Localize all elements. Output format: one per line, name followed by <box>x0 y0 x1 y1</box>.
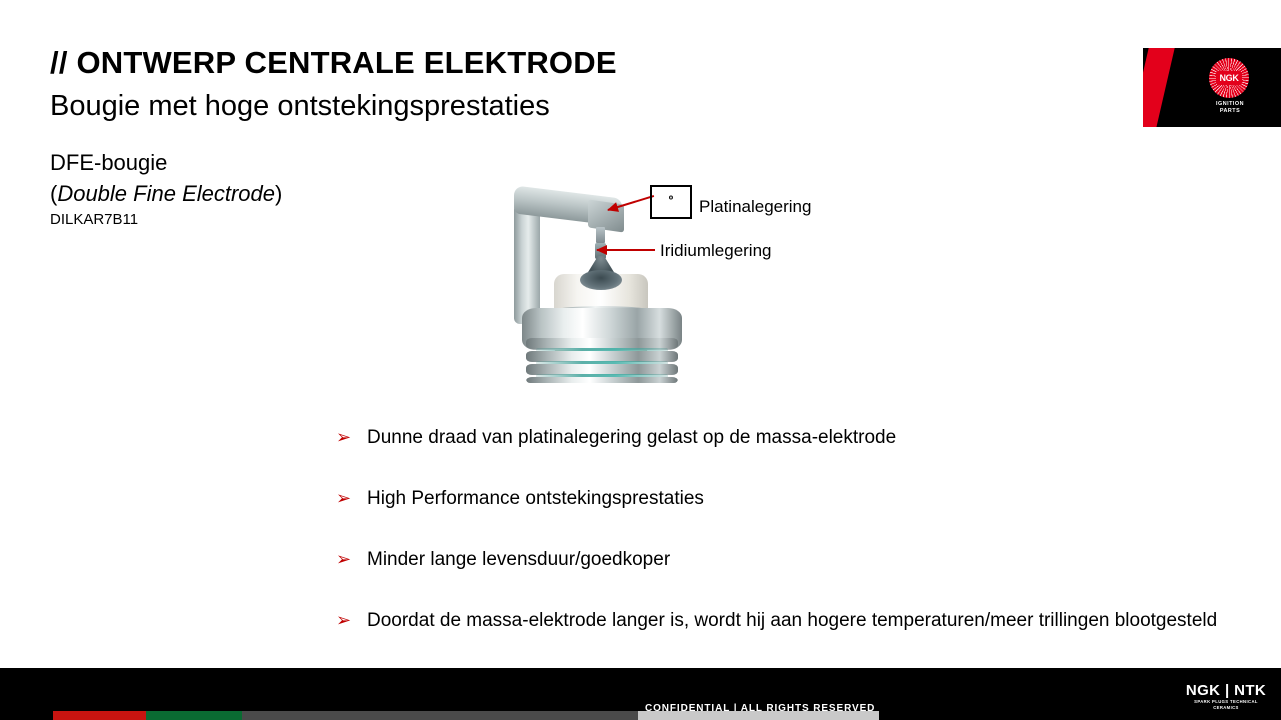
footer-color-strip <box>0 711 1281 720</box>
list-item: ➢ High Performance ontstekingsprestaties <box>336 485 1236 512</box>
callout-label-platinum: Platinalegering <box>699 197 811 217</box>
bullet-list: ➢ Dunne draad van platinalegering gelast… <box>336 424 1236 634</box>
list-item-text: Minder lange levensduur/goedkoper <box>367 549 670 570</box>
brand-stripe-decoration <box>1143 48 1176 127</box>
strip-segment-green <box>146 711 242 720</box>
callout-label-iridium: Iridiumlegering <box>660 241 772 261</box>
strip-segment-black-right <box>879 711 1281 720</box>
strip-segment-dark-gray <box>242 711 638 720</box>
product-expansion: (Double Fine Electrode) <box>50 178 470 209</box>
footer-logo-divisions: SPARK PLUGS TECHNICAL CERAMICS <box>1182 699 1270 711</box>
strip-segment-light-gray <box>638 711 879 720</box>
product-expansion-text: Double Fine Electrode <box>57 181 275 206</box>
product-name: DFE-bougie <box>50 147 470 178</box>
list-item-text: Doordat de massa-elektrode langer is, wo… <box>367 610 1217 631</box>
list-item: ➢ Minder lange levensduur/goedkoper <box>336 546 1236 573</box>
brand-tagline: IGNITION PARTS <box>1201 101 1259 115</box>
list-item: ➢ Doordat de massa-elektrode langer is, … <box>336 607 1236 634</box>
bullet-arrow-icon: ➢ <box>336 607 351 634</box>
callout-symbol: º <box>652 194 690 206</box>
callout-box-platinum: º <box>650 185 692 219</box>
bullet-arrow-icon: ➢ <box>336 485 351 512</box>
product-code: DILKAR7B11 <box>50 209 470 231</box>
bullet-arrow-icon: ➢ <box>336 546 351 573</box>
insulator-well <box>580 270 622 290</box>
list-item-text: Dunne draad van platinalegering gelast o… <box>367 427 896 448</box>
threaded-shell <box>526 338 678 383</box>
ground-electrode-arm <box>514 204 540 324</box>
strip-segment-black-left <box>0 711 53 720</box>
footer-logo-wordmark: NGK | NTK <box>1182 683 1270 699</box>
brand-tagline-line2: PARTS <box>1201 108 1259 115</box>
platinum-alloy-pad <box>596 227 605 243</box>
brand-panel: NGK IGNITION PARTS <box>1143 48 1281 127</box>
list-item-text: High Performance ontstekingsprestaties <box>367 488 704 509</box>
brand-tagline-line1: IGNITION <box>1201 101 1259 108</box>
ngk-logo-wordmark: NGK <box>1216 71 1242 85</box>
page-title: // ONTWERP CENTRALE ELEKTRODE <box>50 45 617 81</box>
bullet-arrow-icon: ➢ <box>336 424 351 451</box>
paren-close: ) <box>275 181 282 206</box>
thread-ring <box>526 377 678 383</box>
list-item: ➢ Dunne draad van platinalegering gelast… <box>336 424 1236 451</box>
strip-segment-red <box>53 711 146 720</box>
callout-arrow-iridium-icon <box>597 249 655 251</box>
product-identification-block: DFE-bougie (Double Fine Electrode) DILKA… <box>50 147 470 231</box>
ngk-sunburst-logo-icon: NGK <box>1209 58 1249 98</box>
page-subtitle: Bougie met hoge ontstekingsprestaties <box>50 90 550 123</box>
